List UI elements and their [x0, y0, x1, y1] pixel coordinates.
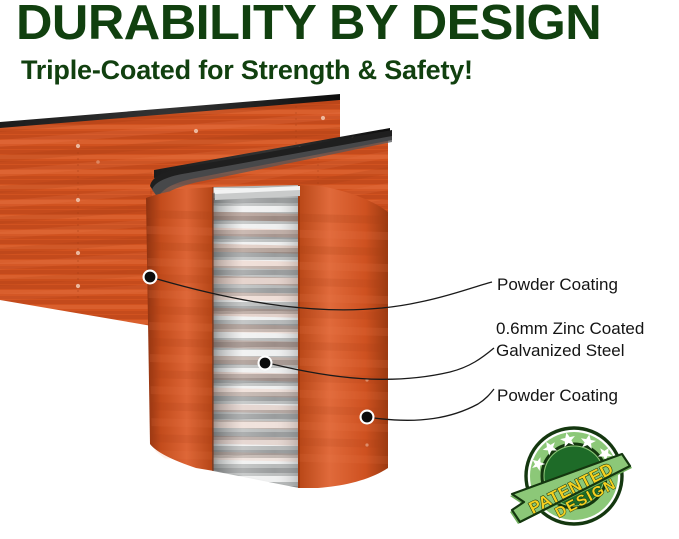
badge-svg: DESIGN PATENTED	[508, 424, 638, 534]
callout-label-powder-coating-inner: Powder Coating	[497, 385, 618, 407]
callout-label-galvanized-steel: 0.6mm Zinc Coated Galvanized Steel	[496, 318, 644, 362]
callout-label-steel-line2: Galvanized Steel	[496, 340, 644, 362]
callout-dot-powder-coating-outer[interactable]	[143, 270, 158, 285]
front-curved-panel-cutaway	[146, 180, 388, 495]
callout-dot-powder-coating-inner[interactable]	[360, 410, 375, 425]
callout-dot-galvanized-steel[interactable]	[258, 356, 273, 371]
poster-canvas: DURABILITY BY DESIGN Triple-Coated for S…	[0, 0, 679, 534]
patented-design-badge: DESIGN PATENTED	[508, 424, 638, 534]
callout-label-steel-line1: 0.6mm Zinc Coated	[496, 318, 644, 340]
callout-label-powder-coating-outer: Powder Coating	[497, 274, 618, 296]
